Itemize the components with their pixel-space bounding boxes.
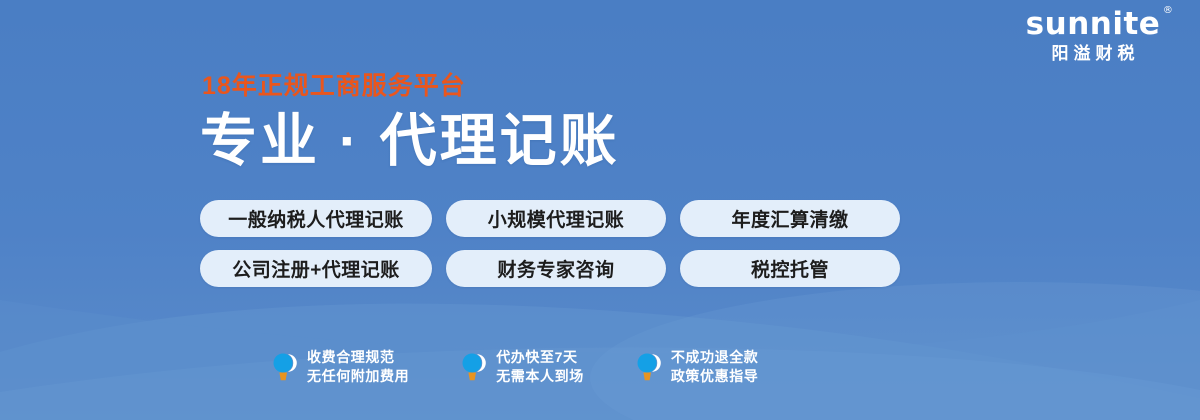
- registered-trademark-icon: ®: [1163, 6, 1174, 16]
- feature-line-1: 不成功退全款: [671, 350, 759, 365]
- feature-line-2: 政策优惠指导: [671, 369, 759, 384]
- service-pill[interactable]: 小规模代理记账: [446, 200, 666, 237]
- service-pill[interactable]: 年度汇算清缴: [680, 200, 900, 237]
- feature-line-1: 代办快至7天: [496, 350, 584, 365]
- service-pill[interactable]: 一般纳税人代理记账: [200, 200, 432, 237]
- feature-highlight-strip: 收费合理规范 无任何附加费用 代办快至7天 无需本人到场: [272, 350, 758, 383]
- logo-wordmark: sunnite ®: [1026, 8, 1161, 41]
- page-title: 专业 · 代理记账: [200, 113, 620, 170]
- brand-logo[interactable]: sunnite ® 阳溢财税: [1008, 8, 1178, 64]
- feature-item: 收费合理规范 无任何附加费用: [272, 350, 409, 383]
- service-pill-grid: 一般纳税人代理记账 小规模代理记账 年度汇算清缴 公司注册+代理记账 财务专家咨…: [200, 200, 900, 287]
- hot-air-balloon-icon: [636, 351, 662, 383]
- logo-wordmark-text: sunnite: [1026, 6, 1161, 42]
- hot-air-balloon-icon: [272, 351, 298, 383]
- hot-air-balloon-icon: [461, 351, 487, 383]
- feature-line-2: 无需本人到场: [496, 369, 584, 384]
- hero-text-block: 18年正规工商服务平台 专业 · 代理记账: [200, 74, 620, 170]
- hero-eyebrow: 18年正规工商服务平台: [202, 74, 620, 99]
- promo-banner: sunnite ® 阳溢财税 18年正规工商服务平台 专业 · 代理记账 一般纳…: [0, 0, 1200, 420]
- feature-text: 代办快至7天 无需本人到场: [496, 350, 584, 383]
- logo-chinese-name: 阳溢财税: [1008, 44, 1178, 64]
- feature-item: 代办快至7天 无需本人到场: [461, 350, 584, 383]
- feature-line-1: 收费合理规范: [307, 350, 409, 365]
- feature-item: 不成功退全款 政策优惠指导: [636, 350, 759, 383]
- feature-line-2: 无任何附加费用: [307, 369, 409, 384]
- service-pill[interactable]: 税控托管: [680, 250, 900, 287]
- service-pill[interactable]: 公司注册+代理记账: [200, 250, 432, 287]
- feature-text: 不成功退全款 政策优惠指导: [671, 350, 759, 383]
- service-pill[interactable]: 财务专家咨询: [446, 250, 666, 287]
- feature-text: 收费合理规范 无任何附加费用: [307, 350, 409, 383]
